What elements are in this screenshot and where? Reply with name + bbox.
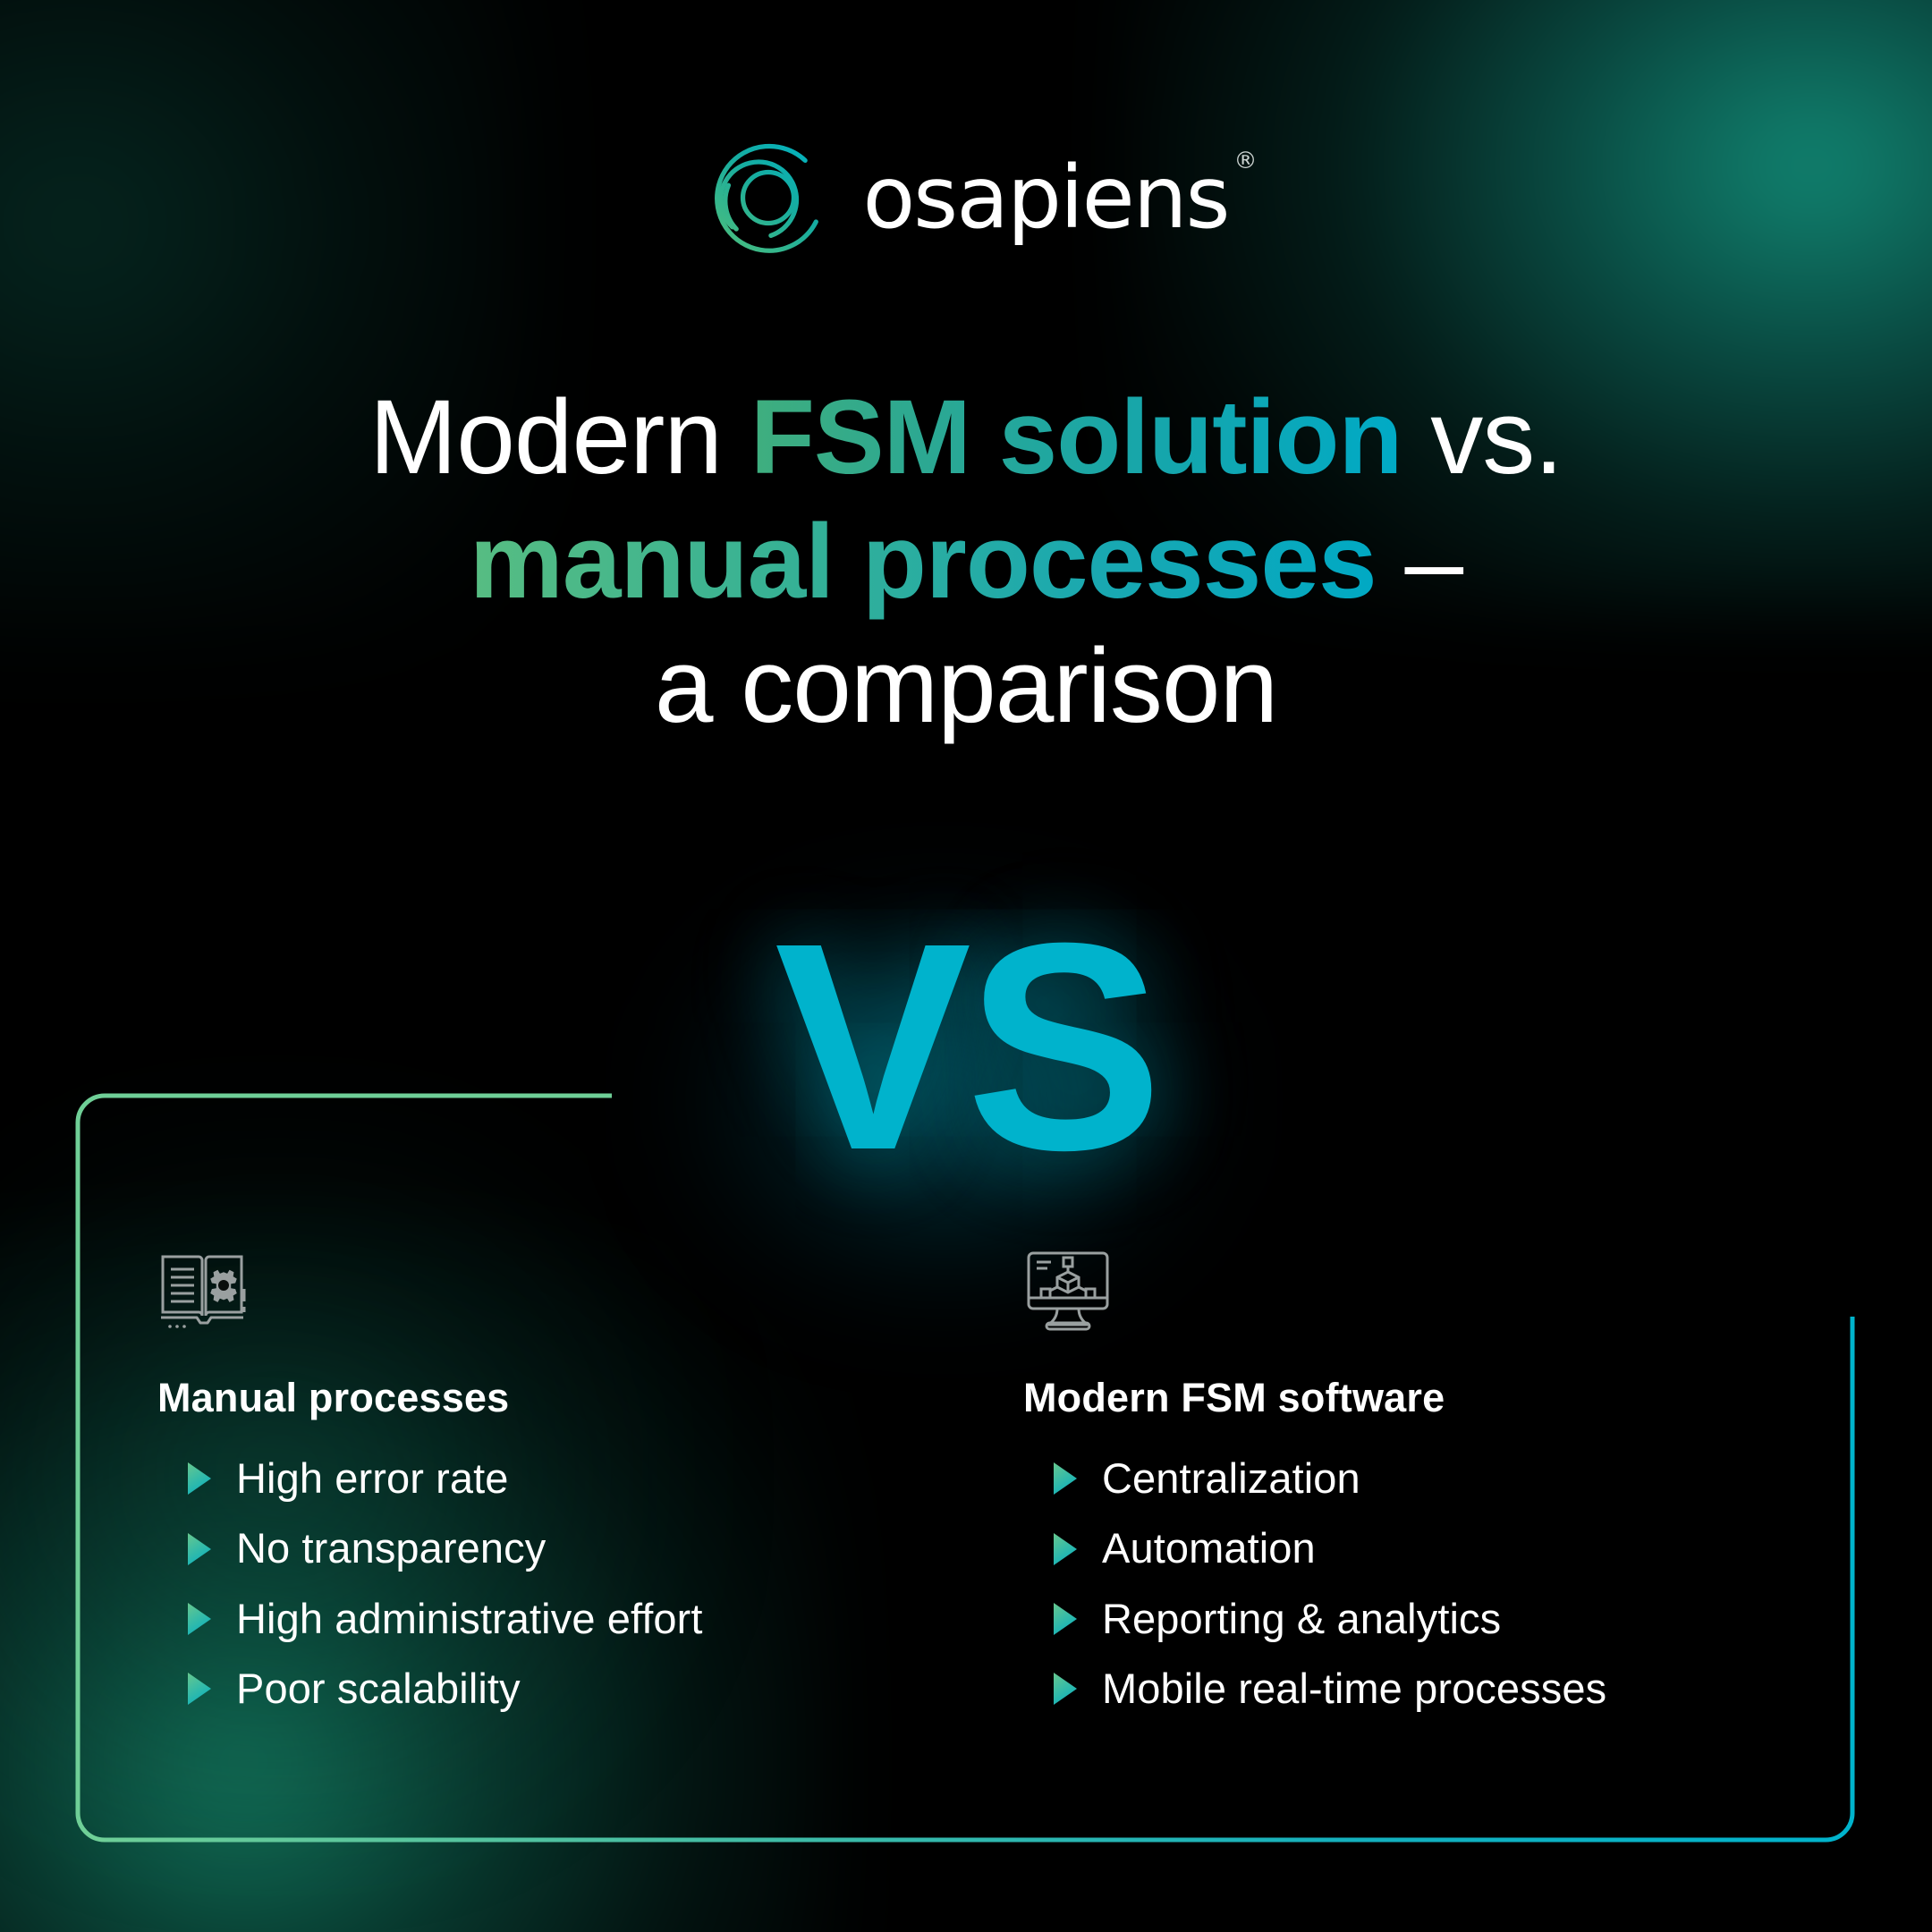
headline-line-3: a comparison (655, 627, 1277, 745)
arrow-bullet-icon (186, 1601, 213, 1637)
comparison-card: Manual processes High error rate (75, 1093, 1855, 1871)
list-item: Poor scalability (186, 1664, 945, 1714)
headline-l1-accent: FSM solution (750, 378, 1402, 496)
arrow-bullet-icon (186, 1671, 213, 1707)
list-item-label: No transparency (236, 1523, 546, 1573)
column-manual-processes: Manual processes High error rate (157, 1250, 945, 1734)
list-item-label: High administrative effort (236, 1594, 703, 1644)
arrow-bullet-icon (1052, 1671, 1079, 1707)
column-modern-fsm-software: Modern FSM software Centralization Autom… (1023, 1250, 1828, 1734)
list-item: Automation (1052, 1523, 1828, 1573)
arrow-bullet-icon (1052, 1461, 1079, 1496)
list-item-label: High error rate (236, 1453, 509, 1504)
list-item-label: Centralization (1102, 1453, 1360, 1504)
arrow-bullet-icon (186, 1531, 213, 1567)
monitor-network-icon (1023, 1250, 1828, 1332)
headline-l1-plain-b: vs. (1402, 378, 1563, 496)
bullet-list-manual: High error rate No transparency High adm… (157, 1453, 945, 1715)
column-title-fsm: Modern FSM software (1023, 1375, 1828, 1421)
list-item: Reporting & analytics (1052, 1594, 1828, 1644)
registered-trademark-icon: ® (1234, 149, 1256, 173)
headline-line-2: manual processes – (470, 503, 1462, 621)
headline-l1-plain-a: Modern (369, 378, 750, 496)
slide-content: osapiens ® Modern FSM solution vs. manua… (0, 0, 1932, 1932)
card-columns: Manual processes High error rate (75, 1093, 1855, 1871)
list-item-label: Automation (1102, 1523, 1316, 1573)
list-item-label: Reporting & analytics (1102, 1594, 1501, 1644)
bullet-list-fsm: Centralization Automation Reporting & an… (1023, 1453, 1828, 1715)
osapiens-rings-logo-icon (703, 132, 834, 263)
brand-logo: osapiens ® (0, 132, 1932, 263)
list-item: No transparency (186, 1523, 945, 1573)
list-item: High administrative effort (186, 1594, 945, 1644)
arrow-bullet-icon (1052, 1531, 1079, 1567)
list-item: High error rate (186, 1453, 945, 1504)
arrow-bullet-icon (1052, 1601, 1079, 1637)
headline-line-1: Modern FSM solution vs. (369, 378, 1563, 496)
list-item-label: Poor scalability (236, 1664, 521, 1714)
list-item: Centralization (1052, 1453, 1828, 1504)
wordmark: osapiens ® (862, 155, 1228, 241)
column-title-manual: Manual processes (157, 1375, 945, 1421)
list-item-label: Mobile real-time processes (1102, 1664, 1606, 1714)
book-gear-icon (157, 1250, 945, 1332)
headline-l2-plain: – (1377, 503, 1462, 621)
list-item: Mobile real-time processes (1052, 1664, 1828, 1714)
headline-l2-accent: manual processes (470, 503, 1377, 621)
page-title: Modern FSM solution vs. manual processes… (0, 376, 1932, 750)
arrow-bullet-icon (186, 1461, 213, 1496)
wordmark-text: osapiens (862, 148, 1228, 248)
